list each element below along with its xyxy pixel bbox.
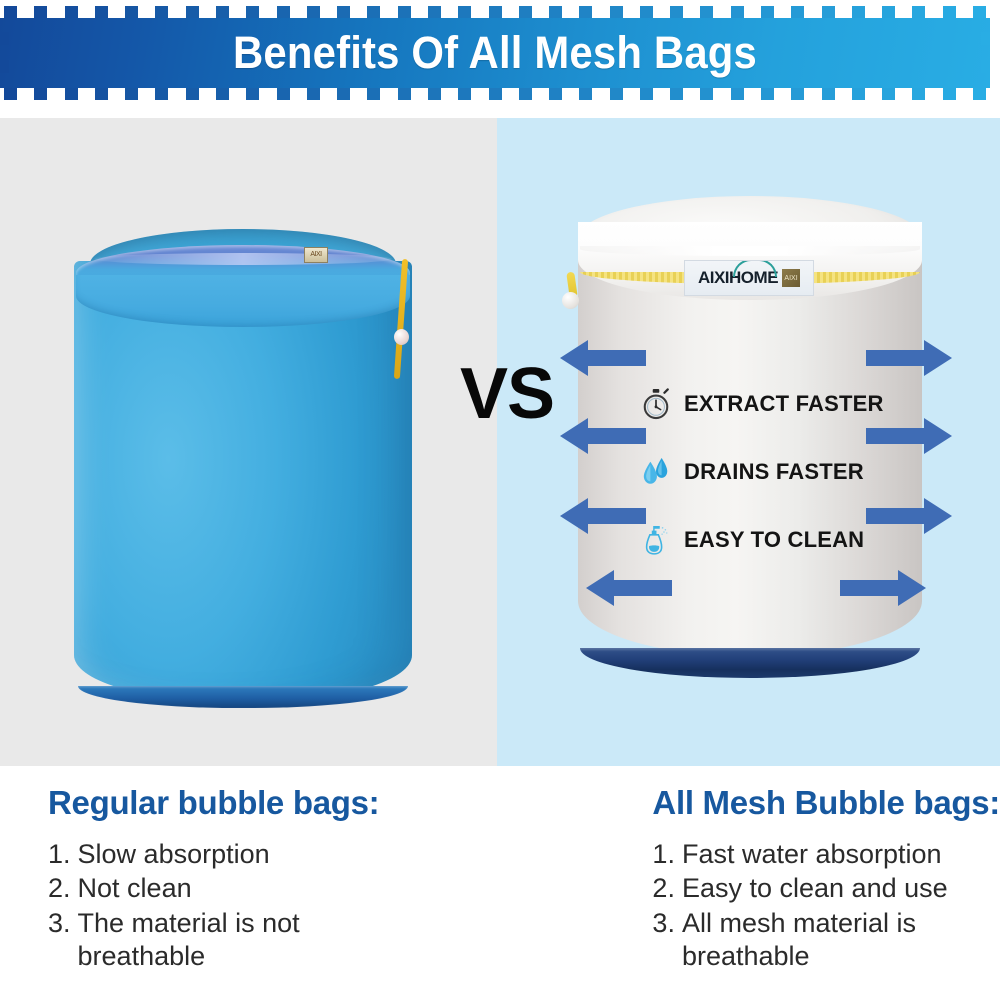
list-item: 2. Easy to clean and use bbox=[652, 872, 1000, 905]
banner-notch bbox=[367, 6, 380, 18]
vs-label: VS bbox=[452, 358, 562, 430]
banner-notch bbox=[670, 6, 683, 18]
all-mesh-bag-column: All Mesh Bubble bags: 1. Fast water abso… bbox=[112, 770, 1000, 992]
banner-notch bbox=[367, 88, 380, 100]
banner-notch bbox=[489, 6, 502, 18]
banner-notch bbox=[852, 6, 865, 18]
banner-notch bbox=[307, 88, 320, 100]
banner-notch bbox=[277, 6, 290, 18]
banner-notch bbox=[852, 88, 865, 100]
banner-notch-right-upper bbox=[981, 32, 990, 45]
brand-label: AIXIHOME AIXI bbox=[684, 260, 814, 296]
list-item-number: 3. bbox=[652, 907, 675, 974]
banner-notch bbox=[761, 6, 774, 18]
banner-notch bbox=[155, 6, 168, 18]
stopwatch-icon bbox=[640, 387, 672, 421]
banner-notch bbox=[428, 88, 441, 100]
banner-notch-left-lower bbox=[0, 60, 9, 73]
banner-notch bbox=[458, 6, 471, 18]
banner-notch bbox=[155, 88, 168, 100]
banner-notch bbox=[34, 6, 47, 18]
banner-notch bbox=[610, 6, 623, 18]
regular-bubble-bag-image: AIXI bbox=[68, 223, 418, 708]
banner-notch-right-lower bbox=[981, 60, 990, 73]
banner-notch bbox=[246, 6, 259, 18]
banner-notch bbox=[791, 88, 804, 100]
banner-notch bbox=[277, 88, 290, 100]
banner-notch bbox=[95, 6, 108, 18]
banner-notch bbox=[428, 6, 441, 18]
list-item-text: All mesh material is breathable bbox=[682, 907, 1000, 974]
banner-notch bbox=[822, 6, 835, 18]
banner-notch bbox=[489, 88, 502, 100]
banner-notch bbox=[398, 88, 411, 100]
banner-notch bbox=[731, 88, 744, 100]
banner-notch bbox=[822, 88, 835, 100]
list-item-text: Easy to clean and use bbox=[682, 872, 948, 905]
banner-notch bbox=[700, 6, 713, 18]
right-bag-toggle-bead bbox=[562, 292, 579, 309]
banner-notch bbox=[761, 88, 774, 100]
list-item-number: 1. bbox=[652, 838, 675, 871]
feature-label-easy-to-clean: EASY TO CLEAN bbox=[684, 527, 864, 553]
banner-notch bbox=[216, 88, 229, 100]
brand-arc-icon bbox=[733, 260, 777, 277]
right-bag-drawstring-toggle bbox=[562, 272, 582, 314]
banner-notch bbox=[610, 88, 623, 100]
left-bag-rim-highlight bbox=[94, 253, 392, 265]
banner-notch bbox=[579, 88, 592, 100]
banner-notch bbox=[4, 6, 17, 18]
banner-notch bbox=[34, 88, 47, 100]
banner-notch bbox=[670, 88, 683, 100]
banner-notch bbox=[65, 88, 78, 100]
banner-notch bbox=[519, 88, 532, 100]
banner-notch bbox=[882, 6, 895, 18]
banner-notch bbox=[307, 6, 320, 18]
banner-notch bbox=[216, 6, 229, 18]
banner-notch bbox=[549, 88, 562, 100]
banner-notch bbox=[186, 88, 199, 100]
banner-notch bbox=[943, 88, 956, 100]
feature-label-extract-faster: EXTRACT FASTER bbox=[684, 391, 884, 417]
header-banner: Benefits Of All Mesh Bags bbox=[0, 6, 1000, 98]
list-item: 3. All mesh material is breathable bbox=[652, 907, 1000, 974]
all-mesh-bag-list: 1. Fast water absorption 2. Easy to clea… bbox=[652, 838, 1000, 974]
list-item-number: 2. bbox=[48, 872, 71, 905]
banner-notch bbox=[791, 6, 804, 18]
banner-notch bbox=[640, 6, 653, 18]
comparison-text-columns: Regular bubble bags: 1. Slow absorption … bbox=[0, 770, 1000, 992]
banner-notch bbox=[731, 6, 744, 18]
brand-side-tag: AIXI bbox=[782, 269, 800, 287]
banner-notch bbox=[65, 6, 78, 18]
list-item: 1. Fast water absorption bbox=[652, 838, 1000, 871]
feature-row-extract-faster: EXTRACT FASTER bbox=[640, 382, 970, 426]
banner-notch bbox=[4, 88, 17, 100]
banner-notch bbox=[458, 88, 471, 100]
banner-notch bbox=[337, 88, 350, 100]
feature-label-drains-faster: DRAINS FASTER bbox=[684, 459, 864, 485]
banner-notch bbox=[882, 88, 895, 100]
banner-notch bbox=[519, 6, 532, 18]
left-bag-bottom-rim bbox=[78, 686, 408, 708]
left-bag-tag: AIXI bbox=[304, 247, 328, 263]
feature-row-drains-faster: DRAINS FASTER bbox=[640, 450, 970, 494]
banner-notch bbox=[973, 6, 986, 18]
all-mesh-bag-column-title: All Mesh Bubble bags: bbox=[652, 784, 1000, 822]
right-bag-bottom-rim bbox=[580, 648, 920, 678]
left-bag-drawstring bbox=[396, 259, 405, 379]
banner-notch bbox=[700, 88, 713, 100]
banner-notch bbox=[943, 6, 956, 18]
left-bag-drawstring-toggle bbox=[394, 329, 409, 345]
banner-notch bbox=[912, 88, 925, 100]
banner-notch bbox=[246, 88, 259, 100]
banner-notch bbox=[973, 88, 986, 100]
product-comparison-panel: AIXI VS AIXIHOME AIXI bbox=[0, 118, 1000, 766]
list-item-text: Fast water absorption bbox=[682, 838, 942, 871]
banner-notch bbox=[912, 6, 925, 18]
banner-notch bbox=[337, 6, 350, 18]
feature-list: EXTRACT FASTER DRAINS FASTER bbox=[640, 382, 970, 586]
banner-notch bbox=[186, 6, 199, 18]
banner-notch bbox=[398, 6, 411, 18]
banner-notch bbox=[95, 88, 108, 100]
spray-bottle-icon bbox=[640, 523, 672, 557]
page-title: Benefits Of All Mesh Bags bbox=[35, 18, 956, 88]
banner-notch bbox=[125, 88, 138, 100]
feature-row-easy-to-clean: EASY TO CLEAN bbox=[640, 518, 970, 562]
banner-notch bbox=[579, 6, 592, 18]
banner-notches-bottom bbox=[0, 88, 990, 100]
banner-notches-top bbox=[0, 6, 990, 18]
banner-notch-left-upper bbox=[0, 32, 9, 45]
list-item-number: 1. bbox=[48, 838, 71, 871]
list-item-number: 2. bbox=[652, 872, 675, 905]
banner-notch bbox=[640, 88, 653, 100]
banner-notch bbox=[549, 6, 562, 18]
left-bag-body bbox=[74, 261, 412, 701]
banner-notch bbox=[125, 6, 138, 18]
water-drop-icon bbox=[640, 455, 672, 489]
list-item-number: 3. bbox=[48, 907, 71, 974]
